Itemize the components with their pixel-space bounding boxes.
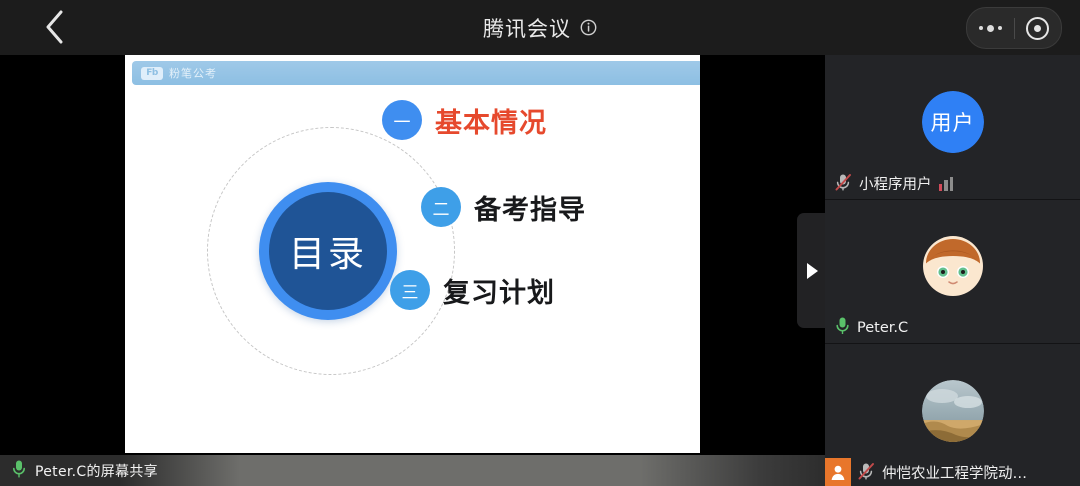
avatar bbox=[922, 380, 984, 442]
diagram-label-2: 备考指导 bbox=[474, 188, 586, 227]
diagram-hub-label: 目录 bbox=[289, 225, 367, 277]
close-miniprogram-button[interactable] bbox=[1015, 8, 1062, 48]
fenbi-logo-icon: Fb bbox=[141, 67, 163, 80]
triangle-right-icon bbox=[807, 263, 818, 279]
microphone-muted-icon bbox=[835, 173, 852, 195]
participant-tile[interactable]: Peter.C bbox=[825, 200, 1080, 345]
avatar: 用户 bbox=[922, 91, 984, 153]
miniprogram-capsule bbox=[966, 7, 1062, 49]
more-dots-icon bbox=[979, 25, 1002, 32]
microphone-muted-icon bbox=[858, 462, 875, 484]
host-person-icon bbox=[825, 458, 851, 486]
shared-screen-stage[interactable]: Fb 粉笔公考 目录 一 基本情况 二 备考指导 bbox=[0, 55, 825, 486]
diagram-bullet-1: 一 bbox=[382, 100, 422, 140]
more-menu-button[interactable] bbox=[967, 8, 1014, 48]
diagram-bullet-3: 三 bbox=[390, 270, 430, 310]
share-status-text: Peter.C的屏幕共享 bbox=[35, 461, 158, 481]
participant-name: Peter.C bbox=[857, 320, 908, 336]
participant-nameplate: Peter.C bbox=[825, 313, 1080, 343]
participant-nameplate: 小程序用户 bbox=[825, 169, 1080, 199]
participant-tile[interactable]: 仲恺农业工程学院动… bbox=[825, 344, 1080, 486]
expand-participants-button[interactable] bbox=[797, 213, 825, 328]
info-circle-icon[interactable] bbox=[580, 19, 597, 36]
page-title: 腾讯会议 bbox=[0, 0, 1080, 55]
diagram-item-1: 一 基本情况 bbox=[382, 100, 547, 140]
participant-nameplate: 仲恺农业工程学院动… bbox=[825, 458, 1080, 486]
top-bar: 腾讯会议 bbox=[0, 0, 1080, 55]
landscape-photo-avatar bbox=[922, 380, 984, 442]
participant-tile[interactable]: 用户 小程序用户 bbox=[825, 55, 1080, 200]
participant-name: 仲恺农业工程学院动… bbox=[882, 462, 1027, 483]
diagram-label-3: 复习计划 bbox=[443, 271, 555, 310]
diagram-item-2: 二 备考指导 bbox=[421, 187, 586, 227]
target-circle-icon bbox=[1026, 17, 1049, 40]
meeting-app: 腾讯会议 Fb bbox=[0, 0, 1080, 486]
share-status-bar: Peter.C的屏幕共享 bbox=[0, 455, 837, 486]
avatar bbox=[922, 235, 984, 297]
microphone-icon bbox=[12, 459, 26, 483]
diagram-item-3: 三 复习计划 bbox=[390, 270, 555, 310]
shared-slide: Fb 粉笔公考 目录 一 基本情况 二 备考指导 bbox=[125, 55, 700, 453]
avatar-initials: 用户 bbox=[922, 91, 984, 153]
participant-rail: 用户 小程序用户 bbox=[825, 55, 1080, 486]
diagram-hub-inner: 目录 bbox=[269, 192, 387, 310]
signal-bars-icon bbox=[939, 177, 954, 191]
microphone-icon bbox=[835, 316, 850, 340]
participant-name: 小程序用户 bbox=[859, 173, 932, 194]
diagram-hub: 目录 bbox=[259, 182, 397, 320]
slide-banner-text: 粉笔公考 bbox=[169, 65, 217, 81]
slide-banner: Fb 粉笔公考 bbox=[132, 61, 700, 85]
cartoon-face-avatar bbox=[922, 235, 984, 297]
diagram-label-1: 基本情况 bbox=[435, 101, 547, 140]
page-title-text: 腾讯会议 bbox=[483, 13, 571, 43]
diagram-bullet-2: 二 bbox=[421, 187, 461, 227]
slide-diagram: 目录 一 基本情况 二 备考指导 三 复习计划 bbox=[125, 89, 700, 453]
